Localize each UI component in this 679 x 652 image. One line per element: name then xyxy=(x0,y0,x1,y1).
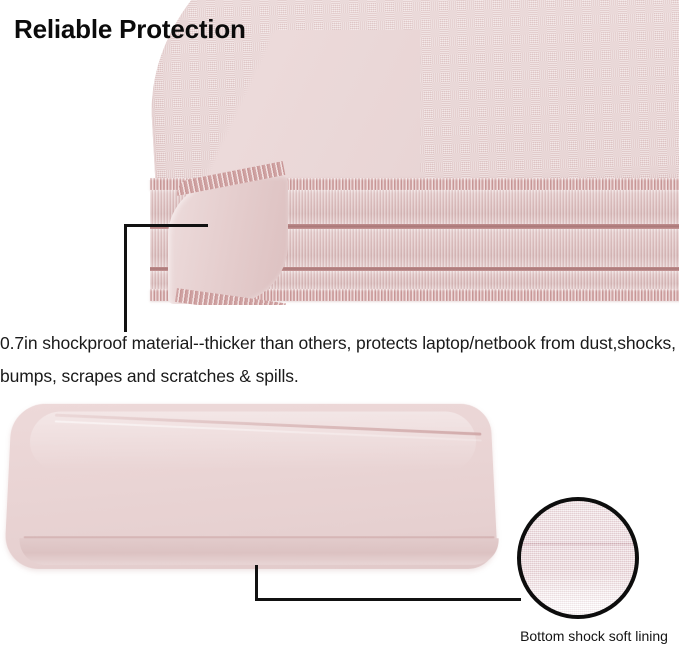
zipper-detail-photo xyxy=(0,0,679,315)
flat-sleeve-body xyxy=(4,404,498,569)
product-infographic: Reliable Protection 0.7in shockproof mat… xyxy=(0,0,679,652)
page-title: Reliable Protection xyxy=(14,14,246,45)
lining-leader-horizontal xyxy=(255,598,521,601)
zipper-leader-vertical xyxy=(124,224,127,332)
flat-sleeve-thickness-edge xyxy=(18,538,500,565)
lining-leader-vertical xyxy=(255,565,258,601)
lining-magnifier-circle xyxy=(517,497,639,619)
description-text: 0.7in shockproof material--thicker than … xyxy=(0,327,679,393)
flat-sleeve-highlight xyxy=(29,412,478,471)
photo-bottom-mask xyxy=(0,305,679,315)
zipper-corner-cap xyxy=(168,176,288,304)
flat-sleeve-photo xyxy=(0,398,520,573)
zipper-leader-horizontal xyxy=(124,224,208,227)
lining-caption: Bottom shock soft lining xyxy=(509,628,679,644)
